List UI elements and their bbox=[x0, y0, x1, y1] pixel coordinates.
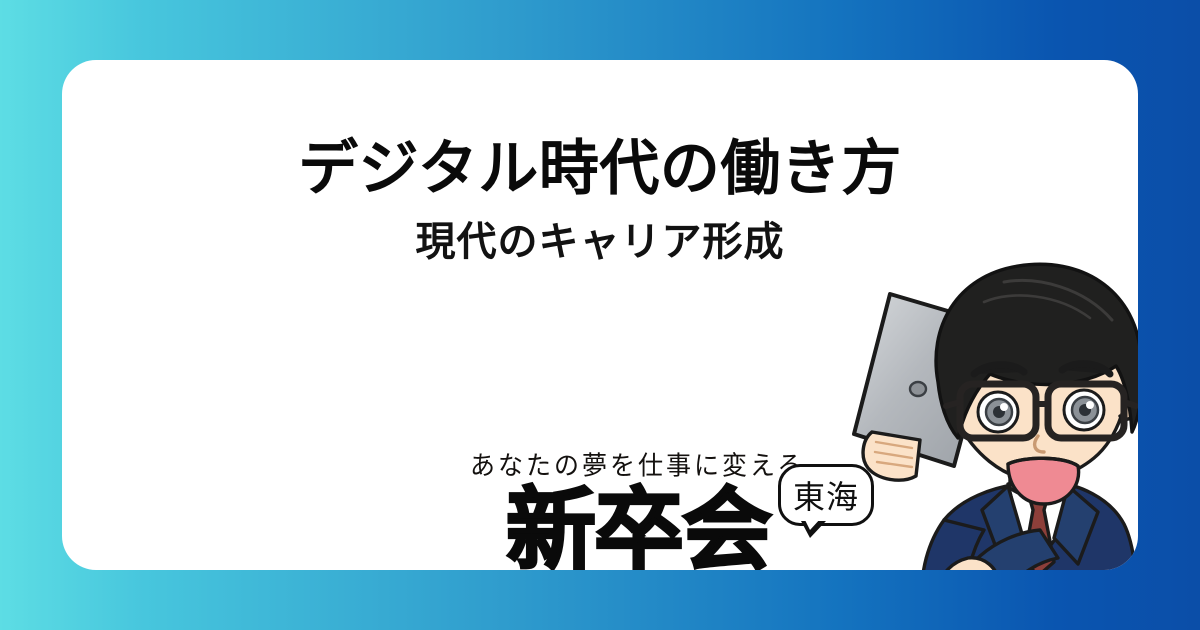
page-subtitle: 現代のキャリア形成 bbox=[62, 220, 1138, 264]
hand-holding-tablet bbox=[863, 432, 920, 480]
content-card: デジタル時代の働き方 現代のキャリア形成 あなたの夢を仕事に変える 新卒会 東海 bbox=[62, 60, 1138, 570]
eye-right bbox=[1064, 390, 1104, 430]
eye-left bbox=[978, 392, 1018, 432]
page-title: デジタル時代の働き方 bbox=[62, 138, 1138, 202]
mascot-body bbox=[854, 264, 1138, 570]
poster-canvas: デジタル時代の働き方 現代のキャリア形成 あなたの夢を仕事に変える 新卒会 東海 bbox=[0, 0, 1200, 630]
speech-bubble-tail bbox=[801, 521, 826, 538]
mascot-illustration bbox=[832, 262, 1138, 570]
headline-block: デジタル時代の働き方 現代のキャリア形成 bbox=[62, 138, 1138, 264]
brand-logo: あなたの夢を仕事に変える 新卒会 東海 bbox=[460, 446, 890, 570]
logo-wordmark: 新卒会 bbox=[506, 486, 770, 570]
